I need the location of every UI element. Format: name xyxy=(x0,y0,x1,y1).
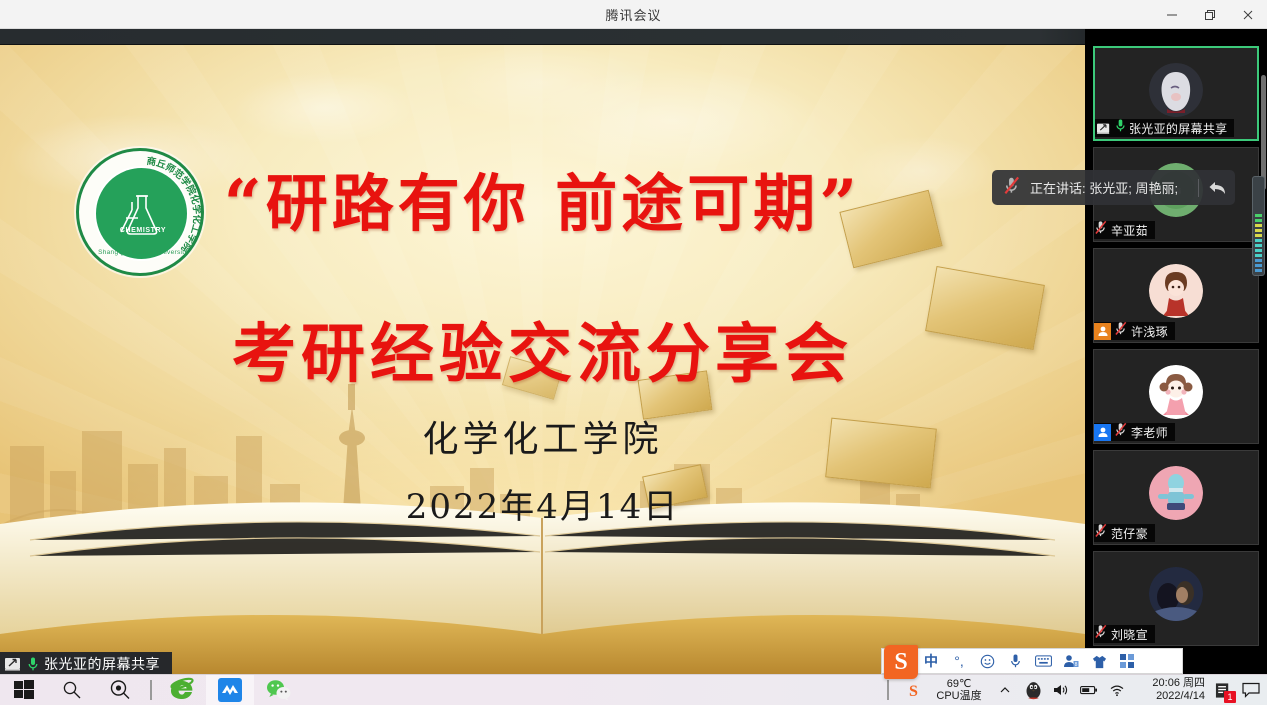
participant-rail[interactable]: 张光亚的屏幕共享 祝福 辛亚茹 xyxy=(1085,29,1267,674)
volume-icon xyxy=(1053,683,1069,697)
battery-button[interactable] xyxy=(1079,684,1099,696)
toolbox-icon[interactable] xyxy=(1114,649,1140,673)
notes-badge: 1 xyxy=(1224,691,1236,703)
cpu-temp-value: 69℃ xyxy=(931,678,987,690)
close-button[interactable] xyxy=(1229,0,1267,29)
svg-text:8: 8 xyxy=(1075,662,1078,668)
participant-namebar: 许浅琢 xyxy=(1094,322,1175,340)
mic-muted-icon xyxy=(1094,624,1108,644)
slide-subtitle: 考研经验交流分享会 xyxy=(0,303,1085,395)
volume-button[interactable] xyxy=(1051,683,1071,697)
minimize-icon xyxy=(1166,9,1178,21)
participant-name: 刘晓宣 xyxy=(1108,626,1148,643)
show-hidden-icons-button[interactable] xyxy=(995,684,1015,696)
participant-namebar: 张光亚的屏幕共享 xyxy=(1095,119,1234,137)
svg-text:S: S xyxy=(909,683,918,699)
share-banner-label: 张光亚的屏幕共享 xyxy=(44,654,160,674)
avatar xyxy=(1149,63,1203,117)
user-account-icon[interactable]: 8 xyxy=(1058,649,1084,673)
sogou-ime-toolbar[interactable]: S 中 °, 8 xyxy=(881,648,1183,674)
close-icon xyxy=(1242,9,1254,21)
clock-date: 2022/4/14 xyxy=(1135,690,1205,703)
windows-start-icon xyxy=(14,680,34,700)
chevron-up-icon xyxy=(999,684,1011,696)
wifi-button[interactable] xyxy=(1107,683,1127,697)
mic-muted-icon xyxy=(1003,176,1021,200)
toast-divider xyxy=(1198,179,1199,197)
chinese-mode-icon[interactable]: 中 xyxy=(918,649,944,673)
windows-start-button[interactable] xyxy=(0,675,48,705)
avatar-image-icon xyxy=(1149,63,1203,117)
close-quote: ” xyxy=(819,165,861,243)
participant-tile[interactable]: 范仔豪 xyxy=(1093,450,1259,545)
participant-name: 范仔豪 xyxy=(1108,525,1148,542)
avatar-image-icon xyxy=(1149,365,1203,419)
reply-button[interactable] xyxy=(1201,179,1235,197)
minimize-button[interactable] xyxy=(1153,0,1191,29)
speaking-notification: 正在讲话: 张光亚; 周艳丽; xyxy=(992,170,1235,205)
restore-icon xyxy=(1204,9,1216,21)
search-icon xyxy=(62,680,82,700)
meeting-toolbar-strip xyxy=(0,29,1267,45)
mic-muted-icon xyxy=(1114,321,1128,341)
host-badge-icon xyxy=(1094,323,1111,340)
open-quote: “ xyxy=(224,165,266,243)
participant-tile[interactable]: 李老师 xyxy=(1093,349,1259,444)
participant-tile[interactable]: 刘晓宣 xyxy=(1093,551,1259,646)
slide-headline: “研路有你 前途可期” xyxy=(0,153,1085,243)
wifi-icon xyxy=(1109,683,1125,697)
action-center-icon xyxy=(1242,682,1260,698)
cpu-temp-label: CPU温度 xyxy=(931,690,987,702)
system-tray[interactable]: S 69℃ CPU温度 xyxy=(881,675,1267,705)
participant-namebar: 辛亚茹 xyxy=(1094,221,1155,239)
speaking-text: 正在讲话: 张光亚; 周艳丽; xyxy=(1030,178,1198,197)
wechat-button[interactable] xyxy=(254,675,302,705)
window-title: 腾讯会议 xyxy=(605,5,661,24)
avatar xyxy=(1149,264,1203,318)
window-controls xyxy=(1153,0,1267,29)
avatar-image-icon xyxy=(1149,264,1203,318)
wechat-icon xyxy=(266,679,291,701)
audio-level-meter xyxy=(1252,176,1265,276)
tencent-meeting-icon xyxy=(218,678,242,702)
restore-button[interactable] xyxy=(1191,0,1229,29)
slide-date: 2022年4月14日 xyxy=(0,479,1085,528)
qq-tray-button[interactable] xyxy=(1023,681,1043,700)
avatar-image-icon xyxy=(1149,466,1203,520)
tencent-meeting-button[interactable] xyxy=(206,675,254,705)
screen-share-icon xyxy=(4,656,22,672)
participant-tile[interactable]: 许浅琢 xyxy=(1093,248,1259,343)
rail-scrollbar[interactable] xyxy=(1261,75,1266,190)
participant-namebar: 李老师 xyxy=(1094,423,1175,441)
participant-name: 辛亚茹 xyxy=(1108,222,1148,239)
screen-share-banner: 张光亚的屏幕共享 xyxy=(0,652,172,676)
reply-arrow-icon xyxy=(1208,179,1228,197)
voice-input-icon[interactable] xyxy=(1002,649,1028,673)
internet-explorer-button[interactable] xyxy=(158,675,206,705)
qq-penguin-icon xyxy=(1025,681,1042,700)
mic-muted-icon xyxy=(1094,220,1108,240)
screen-share-chip-icon xyxy=(1095,120,1112,137)
mic-muted-icon xyxy=(1094,523,1108,543)
sogou-logo-icon[interactable]: S xyxy=(884,645,918,679)
taskbar-search-button[interactable] xyxy=(48,675,96,705)
notes-tray-button[interactable]: 1 xyxy=(1213,682,1233,699)
cortana-button[interactable] xyxy=(96,675,144,705)
taskbar-separator xyxy=(150,680,152,700)
cohost-badge-icon xyxy=(1094,424,1111,441)
headline-text: 研路有你 前途可期 xyxy=(266,167,820,240)
skin-icon[interactable] xyxy=(1086,649,1112,673)
sogou-tray-icon[interactable]: S xyxy=(903,682,923,699)
shared-screen-stage[interactable]: 商丘师范学院化学化工学院 CHEMISTRY ShangQiu Normal xyxy=(0,45,1085,674)
mic-muted-icon xyxy=(1114,422,1128,442)
participant-name: 李老师 xyxy=(1128,424,1168,441)
window-titlebar: 腾讯会议 xyxy=(0,0,1267,29)
windows-taskbar[interactable]: S 69℃ CPU温度 xyxy=(0,674,1267,705)
avatar xyxy=(1149,365,1203,419)
cpu-temp-indicator[interactable]: 69℃ CPU温度 xyxy=(931,678,987,702)
action-center-button[interactable] xyxy=(1241,682,1261,698)
participant-name: 张光亚的屏幕共享 xyxy=(1126,120,1227,137)
participant-namebar: 范仔豪 xyxy=(1094,524,1155,542)
slide-content: 商丘师范学院化学化工学院 CHEMISTRY ShangQiu Normal xyxy=(0,45,1085,674)
clock-time: 20:06 周四 xyxy=(1135,677,1205,690)
avatar xyxy=(1149,466,1203,520)
participant-tile[interactable]: 张光亚的屏幕共享 xyxy=(1093,46,1259,141)
battery-icon xyxy=(1080,684,1098,696)
emoji-icon[interactable] xyxy=(974,649,1000,673)
logo-english-text: ShangQiu Normal University xyxy=(79,249,207,256)
avatar xyxy=(1149,567,1203,621)
soft-keyboard-icon[interactable] xyxy=(1030,649,1056,673)
slide-organization: 化学化工学院 xyxy=(0,410,1085,462)
taskbar-clock[interactable]: 20:06 周四 2022/4/14 xyxy=(1135,677,1205,703)
app-root: 腾讯会议 xyxy=(0,0,1267,705)
participant-name: 许浅琢 xyxy=(1128,323,1168,340)
tray-separator xyxy=(887,680,889,700)
punctuation-mode-icon[interactable]: °, xyxy=(946,649,972,673)
avatar-image-icon xyxy=(1149,567,1203,621)
cortana-icon xyxy=(109,679,131,701)
mic-unmuted-icon xyxy=(27,656,39,672)
participant-namebar: 刘晓宣 xyxy=(1094,625,1155,643)
mic-unmuted-icon xyxy=(1115,118,1126,138)
internet-explorer-icon xyxy=(169,677,195,703)
